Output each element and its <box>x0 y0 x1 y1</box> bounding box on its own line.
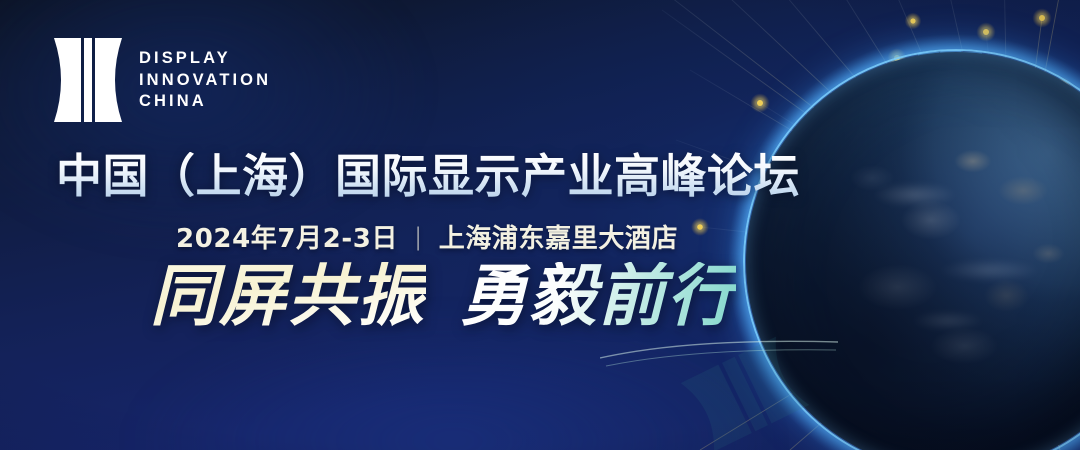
event-date: 2024年7月2-3日 <box>176 218 398 255</box>
event-title: 中国（上海）国际显示产业高峰论坛 <box>56 152 800 201</box>
event-venue: 上海浦东嘉里大酒店 <box>439 218 678 255</box>
dic-logo-mark <box>54 38 122 122</box>
event-banner: DISPLAY INNOVATION CHINA 中国（上海）国际显示产业高峰论… <box>0 0 1080 450</box>
logo-line-display: DISPLAY <box>139 50 271 67</box>
dic-logo-text: DISPLAY INNOVATION CHINA <box>139 50 271 110</box>
banner-content: DISPLAY INNOVATION CHINA 中国（上海）国际显示产业高峰论… <box>0 0 1080 450</box>
logo-line-china: CHINA <box>139 93 271 110</box>
detail-separator: | <box>414 223 423 251</box>
slogan-phrase-1: 同屏共振 <box>150 262 426 329</box>
slogan-phrase-2: 勇毅前行 <box>460 262 736 329</box>
logo-line-innovation: INNOVATION <box>139 72 271 89</box>
slogan-swoosh <box>600 336 840 372</box>
event-slogan: 同屏共振 勇毅前行 <box>150 262 736 329</box>
event-details: 2024年7月2-3日 | 上海浦东嘉里大酒店 <box>176 218 678 255</box>
dic-logo: DISPLAY INNOVATION CHINA <box>54 38 271 122</box>
